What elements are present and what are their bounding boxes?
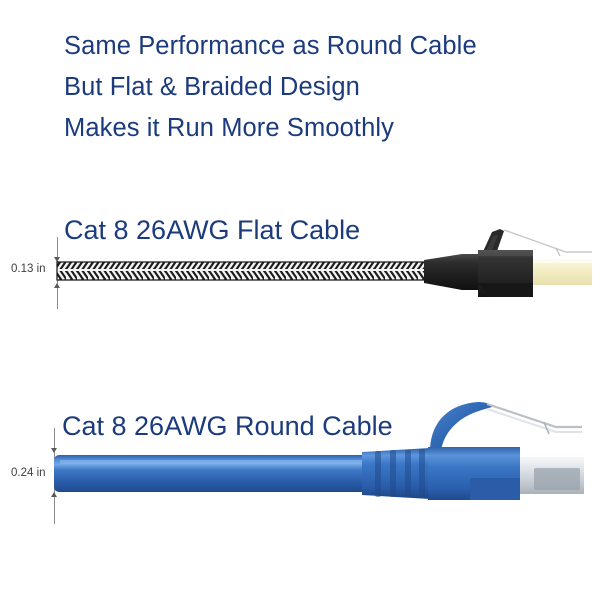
- round-plug-contact-block: [534, 468, 580, 490]
- flat-cable-braided-jacket: [57, 262, 429, 280]
- cable-comparison-infographic: Same Performance as Round Cable But Flat…: [0, 0, 600, 600]
- flat-cable-svg: [0, 180, 600, 320]
- round-cable-illustration: [0, 390, 600, 540]
- flat-cable-illustration: [0, 180, 600, 320]
- flat-plug-tip-highlight: [533, 259, 592, 263]
- round-cable-specular-highlight: [60, 460, 370, 464]
- headline-line-2: But Flat & Braided Design: [64, 67, 584, 108]
- round-cable-svg: [0, 390, 600, 540]
- round-connector-body-step: [470, 478, 520, 500]
- flat-connector-strain-relief: [424, 254, 478, 290]
- headline-line-3: Makes it Run More Smoothly: [64, 108, 584, 149]
- headline-block: Same Performance as Round Cable But Flat…: [64, 26, 584, 149]
- round-connector-clip-wire: [487, 404, 582, 427]
- flat-connector-clip-wire: [504, 230, 592, 252]
- flat-connector-body-highlight: [478, 250, 533, 256]
- round-connector-latch-tab: [430, 402, 492, 452]
- headline-line-1: Same Performance as Round Cable: [64, 26, 584, 67]
- round-plug-tip-highlight: [520, 452, 584, 457]
